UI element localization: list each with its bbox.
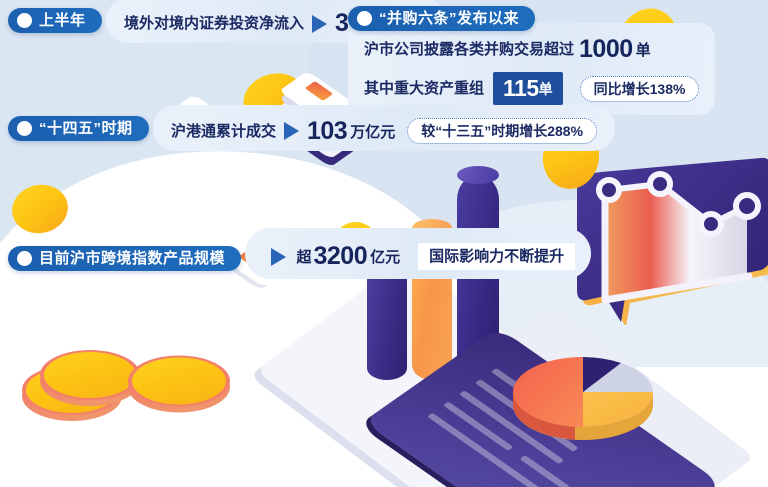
growth-badge: 同比增长138% (580, 76, 700, 102)
bullet-dot-icon (357, 11, 372, 26)
section-body-merger-six-rules: 沪市公司披露各类并购交易超过 1000 单 其中重大资产重组 115 单 同比增… (348, 23, 715, 115)
section-14th-five-year-plan: “十四五”时期 沪港通累计成交 103 万亿元 较“十三五”时期增长288% (8, 113, 615, 151)
highlight-value: 115 (503, 77, 539, 100)
metric-value: 3200 (313, 244, 367, 269)
section-header-label: 目前沪市跨境指数产品规模 (39, 251, 225, 266)
arrow-right-icon (271, 248, 286, 266)
metric-label: 沪港通累计成交 (171, 124, 276, 139)
section-header-label: 上半年 (39, 13, 86, 28)
section-cross-border-index-scale: 目前沪市跨境指数产品规模 超 3200 亿元 国际影响力不断提升 (8, 236, 591, 279)
metric-row-2: 其中重大资产重组 115 单 同比增长138% (364, 72, 699, 105)
3d-pie-chart (505, 320, 665, 480)
section-merger-six-rules: “并购六条”发布以来 沪市公司披露各类并购交易超过 1000 单 其中重大资产重… (348, 6, 715, 115)
highlight-unit: 单 (539, 82, 553, 96)
section-header-first-half-year: 上半年 (8, 8, 102, 33)
coin-2 (40, 325, 140, 425)
section-body-14th-five-year-plan: 沪港通累计成交 103 万亿元 较“十三五”时期增长288% (153, 105, 615, 151)
metric-value: 1000 (579, 37, 633, 62)
metric-label: 沪市公司披露各类并购交易超过 (364, 42, 574, 57)
section-header-14th-five-year-plan: “十四五”时期 (8, 116, 149, 141)
metric-label: 境外对境内证券投资净流入 (124, 16, 304, 31)
section-header-cross-border-index-scale: 目前沪市跨境指数产品规模 (8, 246, 241, 271)
metric-value: 103 (307, 119, 347, 144)
bullet-dot-icon (17, 121, 32, 136)
bullet-dot-icon (17, 251, 32, 266)
infographic-canvas: 上半年 境外对境内证券投资净流入 373 亿美元 “并购六条”发布以来 沪市公司… (0, 0, 768, 487)
section-header-label: “十四五”时期 (39, 121, 133, 136)
section-header-label: “并购六条”发布以来 (379, 11, 519, 26)
coin-3 (128, 330, 230, 432)
metric-unit: 万亿元 (350, 121, 395, 142)
impact-badge: 国际影响力不断提升 (418, 243, 575, 270)
arrow-right-icon (312, 15, 327, 33)
metric-row-1: 沪市公司披露各类并购交易超过 1000 单 (364, 37, 699, 62)
metric-prefix: 超 (296, 246, 311, 267)
bullet-dot-icon (17, 13, 32, 28)
section-header-merger-six-rules: “并购六条”发布以来 (348, 6, 535, 31)
speech-bubble-line-chart (565, 150, 768, 325)
section-body-cross-border-index-scale: 超 3200 亿元 国际影响力不断提升 (245, 228, 591, 279)
growth-badge: 较“十三五”时期增长288% (407, 118, 597, 144)
bar-cylinder-1 (367, 262, 407, 380)
highlight-badge: 115 单 (493, 72, 563, 105)
arrow-right-icon (284, 122, 299, 140)
metric-unit: 单 (636, 39, 651, 60)
metric-label: 其中重大资产重组 (364, 81, 484, 96)
metric-unit: 亿元 (370, 246, 400, 267)
